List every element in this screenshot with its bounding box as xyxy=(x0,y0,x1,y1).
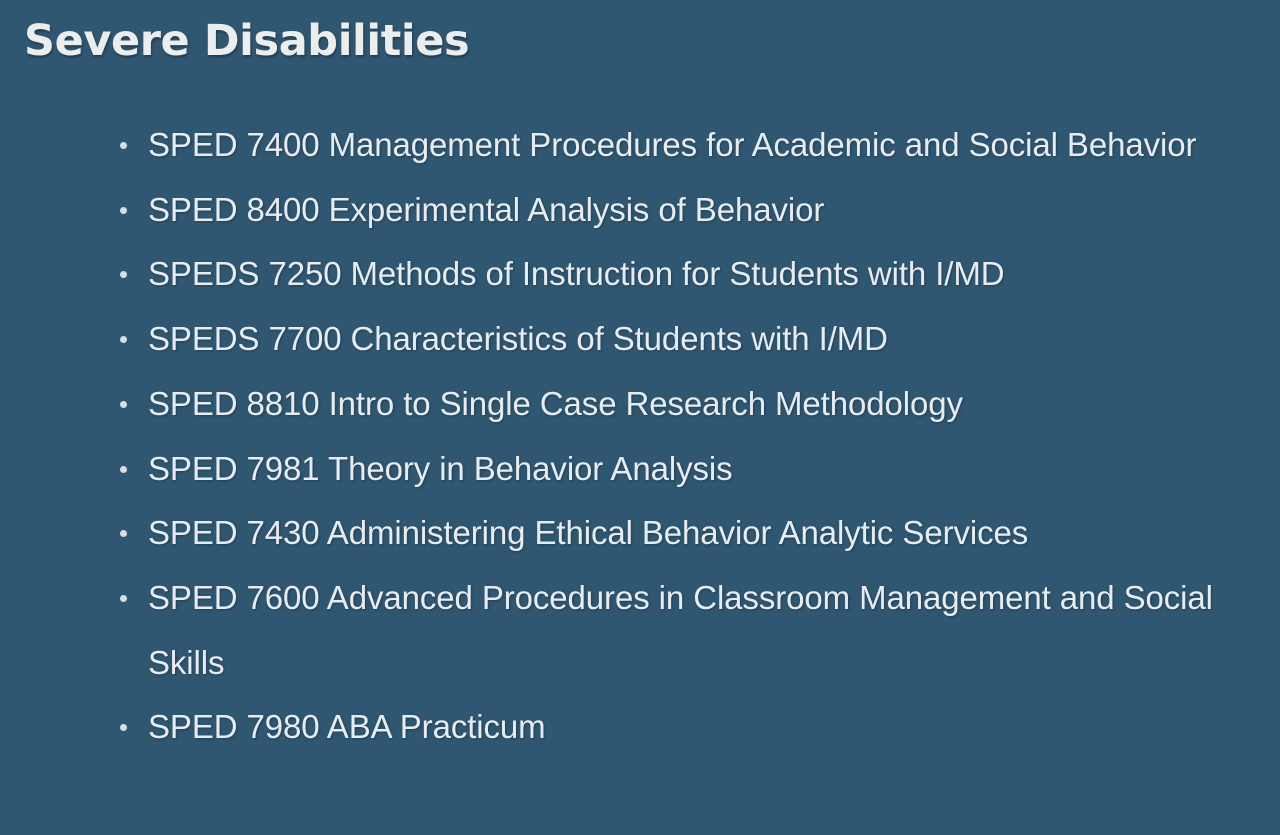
list-item-label: SPED 7600 Advanced Procedures in Classro… xyxy=(148,579,1213,681)
list-item-label: SPED 7981 Theory in Behavior Analysis xyxy=(148,450,733,487)
list-item-label: SPED 8810 Intro to Single Case Research … xyxy=(148,385,963,422)
list-item: SPED 7400 Management Procedures for Acad… xyxy=(0,113,1280,178)
list-item: SPEDS 7250 Methods of Instruction for St… xyxy=(0,242,1280,307)
list-item: SPED 7600 Advanced Procedures in Classro… xyxy=(0,566,1280,695)
list-item-label: SPEDS 7700 Characteristics of Students w… xyxy=(148,320,888,357)
bullet-dot-icon xyxy=(120,336,127,343)
list-item: SPED 7980 ABA Practicum xyxy=(0,695,1280,760)
list-item: SPED 7981 Theory in Behavior Analysis xyxy=(0,437,1280,502)
bullet-dot-icon xyxy=(120,271,127,278)
bullet-dot-icon xyxy=(120,595,127,602)
list-item: SPED 7430 Administering Ethical Behavior… xyxy=(0,501,1280,566)
bullet-dot-icon xyxy=(120,142,127,149)
course-list: SPED 7400 Management Procedures for Acad… xyxy=(0,113,1280,760)
list-item: SPEDS 7700 Characteristics of Students w… xyxy=(0,307,1280,372)
list-item-label: SPED 7980 ABA Practicum xyxy=(148,708,546,745)
list-item: SPED 8400 Experimental Analysis of Behav… xyxy=(0,178,1280,243)
slide-container: Severe Disabilities SPED 7400 Management… xyxy=(0,0,1280,835)
bullet-dot-icon xyxy=(120,724,127,731)
bullet-dot-icon xyxy=(120,401,127,408)
bullet-dot-icon xyxy=(120,207,127,214)
list-item-label: SPED 8400 Experimental Analysis of Behav… xyxy=(148,191,824,228)
page-title: Severe Disabilities xyxy=(24,16,469,68)
list-item-label: SPED 7400 Management Procedures for Acad… xyxy=(148,126,1196,163)
list-item-label: SPED 7430 Administering Ethical Behavior… xyxy=(148,514,1028,551)
list-item-label: SPEDS 7250 Methods of Instruction for St… xyxy=(148,255,1004,292)
bullet-dot-icon xyxy=(120,530,127,537)
bullet-dot-icon xyxy=(120,466,127,473)
list-item: SPED 8810 Intro to Single Case Research … xyxy=(0,372,1280,437)
